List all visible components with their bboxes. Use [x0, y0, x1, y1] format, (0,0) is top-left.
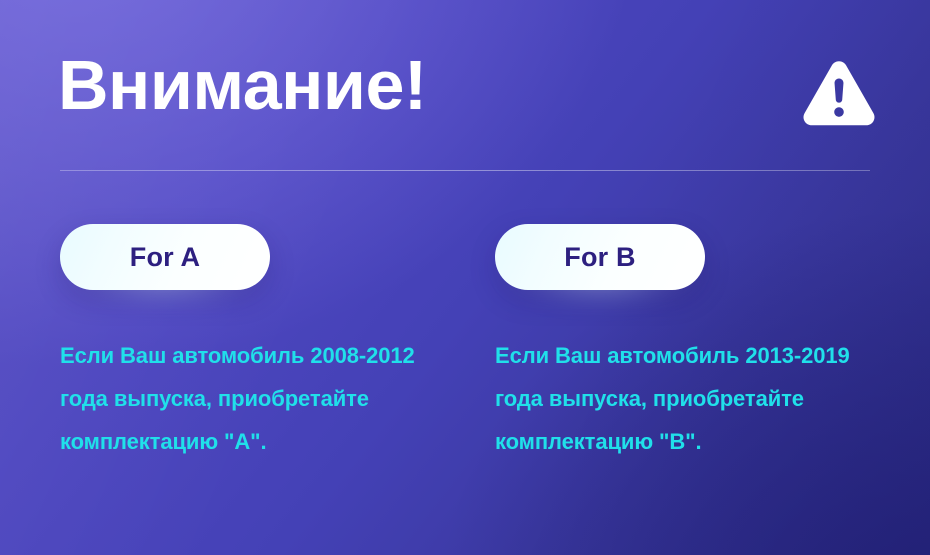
- warning-triangle-icon: [802, 58, 876, 130]
- option-column-b: For B Если Ваш автомобиль 2013-2019 года…: [495, 224, 915, 290]
- for-a-button[interactable]: For A: [60, 224, 270, 290]
- for-a-button-label: For A: [130, 244, 201, 271]
- for-b-button-label: For B: [564, 244, 636, 271]
- option-a-description: Если Ваш автомобиль 2008-2012 года выпус…: [60, 334, 460, 463]
- option-b-description: Если Ваш автомобиль 2013-2019 года выпус…: [495, 334, 895, 463]
- header-divider: [60, 170, 870, 171]
- banner-content: Внимание! For A Если Ваш автомобиль 2008…: [0, 0, 930, 555]
- page-title: Внимание!: [58, 50, 427, 120]
- for-b-button[interactable]: For B: [495, 224, 705, 290]
- option-column-a: For A Если Ваш автомобиль 2008-2012 года…: [60, 224, 480, 290]
- attention-banner: Внимание! For A Если Ваш автомобиль 2008…: [0, 0, 930, 555]
- for-b-button-wrapper: For B: [495, 224, 705, 290]
- for-a-button-wrapper: For A: [60, 224, 270, 290]
